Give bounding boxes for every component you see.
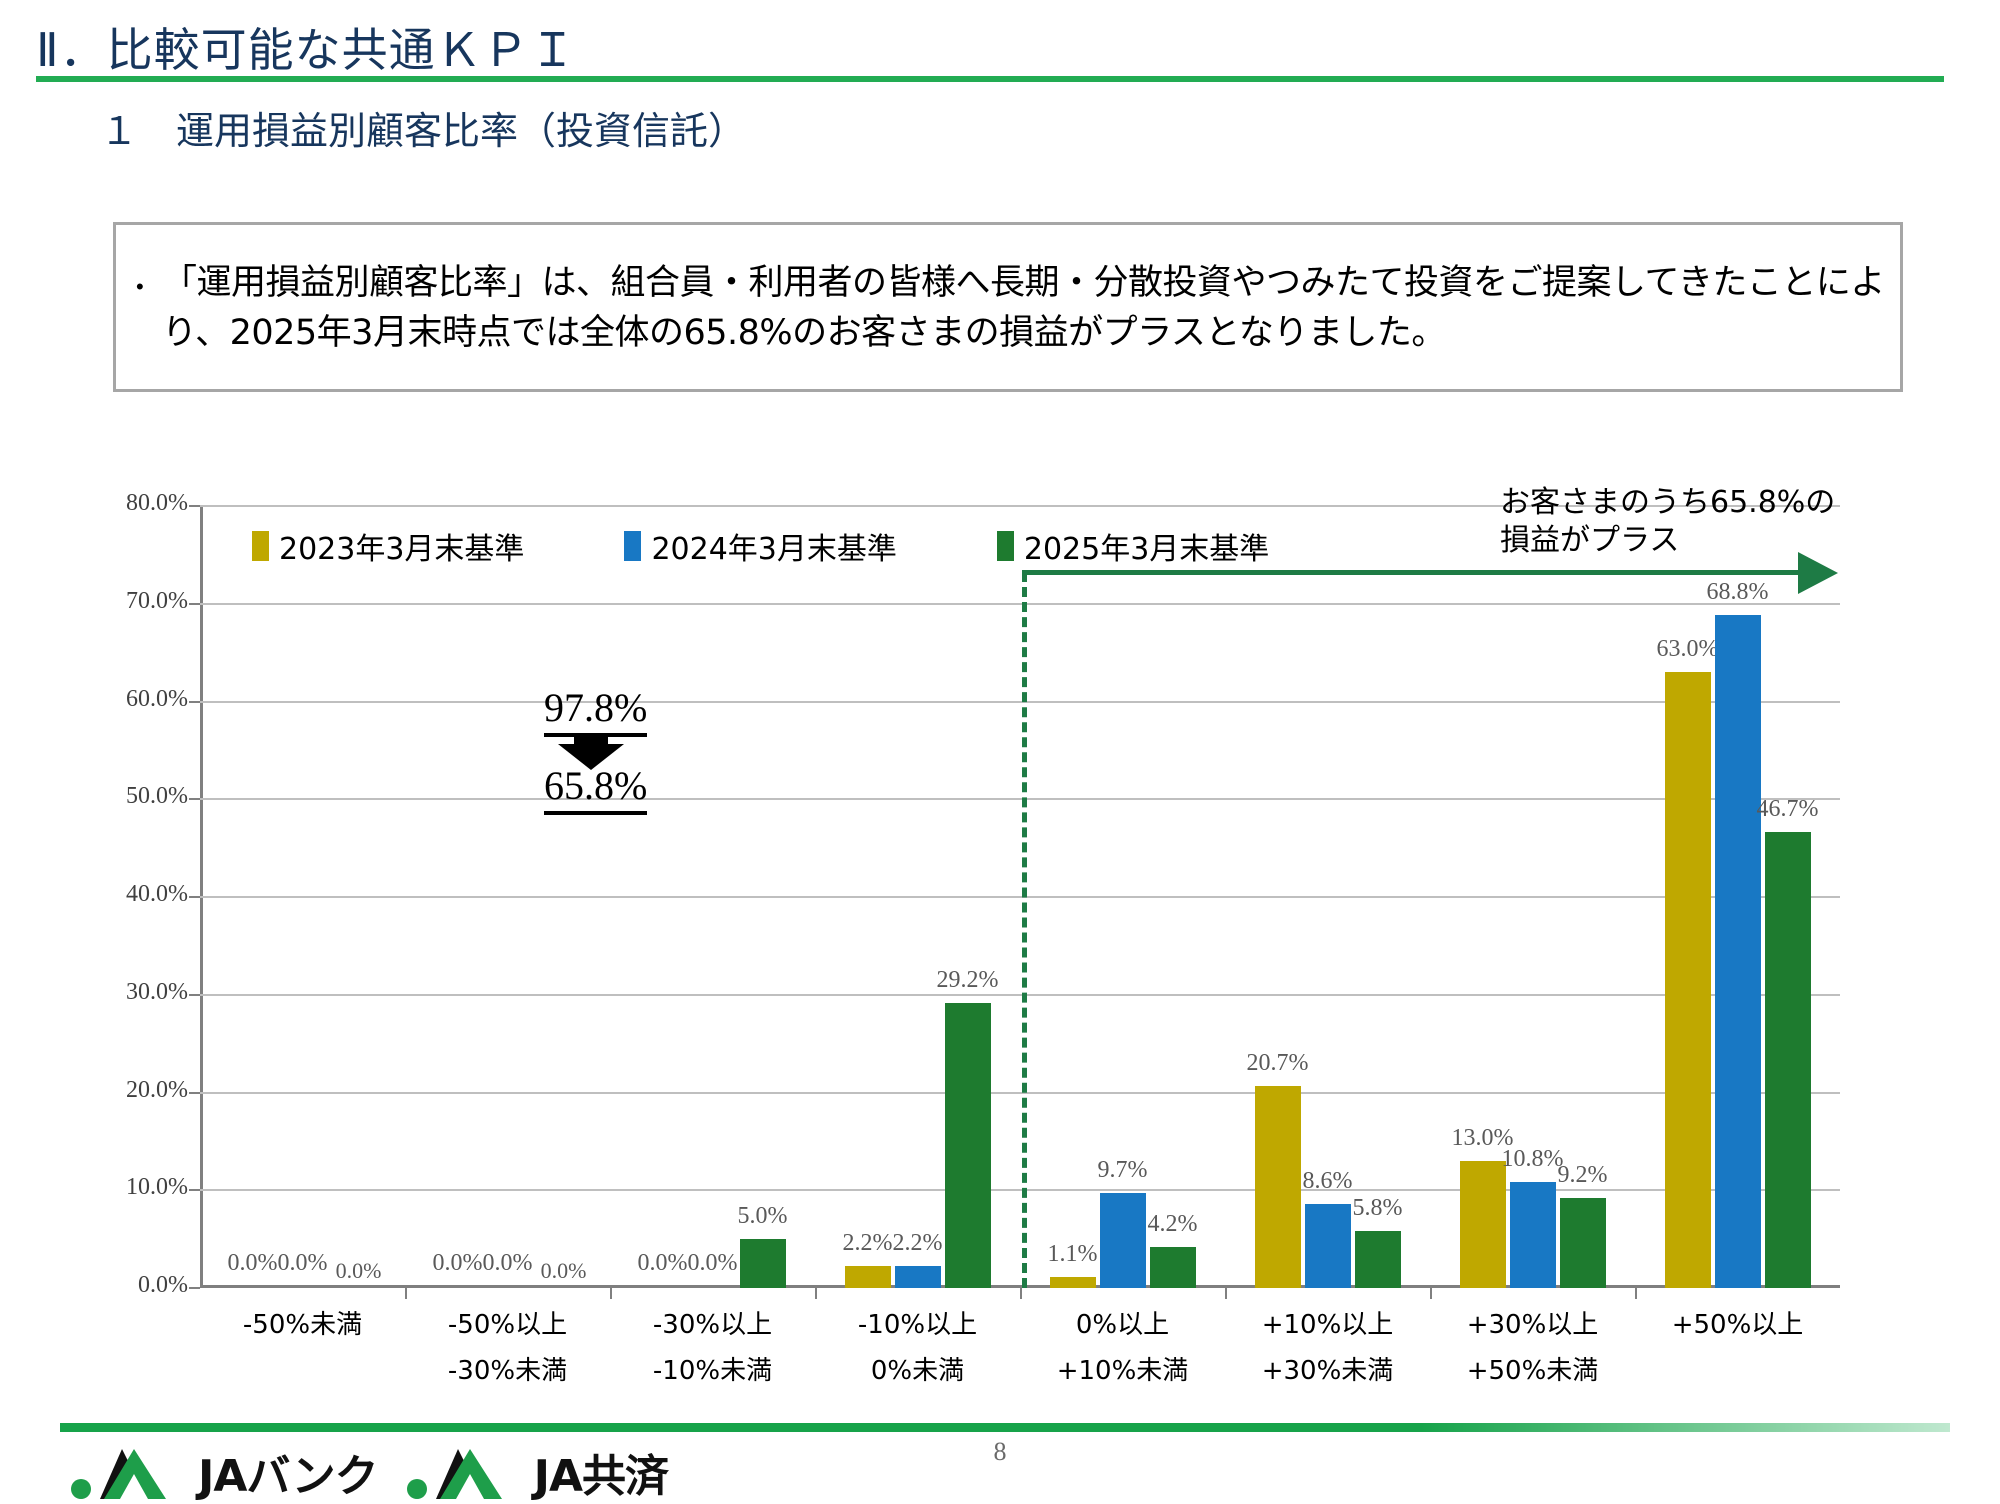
bar[interactable] <box>1150 1247 1196 1288</box>
y-axis-tick-label: 0.0% <box>28 1272 188 1299</box>
legend-swatch-icon <box>997 531 1014 561</box>
footer-divider-rule <box>60 1423 1950 1432</box>
bar-value-label: 8.6% <box>1276 1168 1380 1195</box>
y-axis-tick-label: 10.0% <box>28 1174 188 1201</box>
x-axis-category-line1: +50%以上 <box>1588 1302 1888 1348</box>
y-axis-tick-label: 70.0% <box>28 588 188 615</box>
gridline <box>200 798 1840 800</box>
legend-label: 2024年3月末基準 <box>651 524 896 568</box>
legend-item[interactable]: 2023年3月末基準 <box>252 524 524 568</box>
x-axis-tick <box>815 1288 817 1299</box>
y-axis-tick <box>189 505 200 507</box>
y-axis-tick-label: 60.0% <box>28 686 188 713</box>
y-axis-tick <box>189 701 200 703</box>
gridline <box>200 1189 1840 1191</box>
bar[interactable] <box>845 1266 891 1288</box>
bar-value-label: 46.7% <box>1736 796 1840 823</box>
ja-bank-logo: JAバンク <box>70 1440 378 1504</box>
y-axis-tick <box>189 1092 200 1094</box>
bar[interactable] <box>1665 672 1711 1288</box>
y-axis-tick <box>189 1189 200 1191</box>
bar[interactable] <box>895 1266 941 1288</box>
y-axis-tick <box>189 896 200 898</box>
ja-logo-mark-icon <box>406 1443 524 1501</box>
positive-share-annotation-line2: 損益がプラス <box>1500 522 1835 560</box>
bar[interactable] <box>1715 615 1761 1288</box>
ja-logo-mark-icon <box>70 1443 188 1501</box>
bar-value-label: 5.0% <box>711 1203 815 1230</box>
positive-threshold-divider <box>1022 572 1027 1288</box>
x-axis-tick <box>1020 1288 1022 1299</box>
bar[interactable] <box>1560 1198 1606 1288</box>
y-axis-tick <box>189 1287 200 1289</box>
y-axis-tick <box>189 798 200 800</box>
x-axis-category-line2: +50%未満 <box>1383 1348 1683 1394</box>
legend-label: 2023年3月末基準 <box>279 524 524 568</box>
x-axis-tick <box>1225 1288 1227 1299</box>
x-axis-tick <box>405 1288 407 1299</box>
ja-kyosai-logo-text: JA共済 <box>534 1440 668 1504</box>
legend-item[interactable]: 2025年3月末基準 <box>997 524 1269 568</box>
y-axis-tick-label: 50.0% <box>28 783 188 810</box>
bar-value-label: 68.8% <box>1686 579 1790 606</box>
legend-item[interactable]: 2024年3月末基準 <box>624 524 896 568</box>
bar-value-label: 0.0% <box>307 1258 411 1284</box>
y-axis-tick <box>189 603 200 605</box>
legend-label: 2025年3月末基準 <box>1024 524 1269 568</box>
y-axis-tick-label: 20.0% <box>28 1077 188 1104</box>
bar[interactable] <box>1050 1277 1096 1288</box>
y-axis-tick <box>189 994 200 996</box>
drop-from-label: 97.8% <box>544 684 647 737</box>
bar-value-label: 4.2% <box>1121 1211 1225 1238</box>
x-axis-tick <box>1430 1288 1432 1299</box>
legend-swatch-icon <box>252 531 269 561</box>
positive-share-annotation-line1: お客さまのうち65.8%の <box>1500 484 1835 522</box>
bar[interactable] <box>1510 1182 1556 1288</box>
y-axis-tick-label: 40.0% <box>28 881 188 908</box>
gridline <box>200 896 1840 898</box>
bar-value-label: 9.7% <box>1071 1157 1175 1184</box>
bar[interactable] <box>945 1003 991 1288</box>
x-axis-tick <box>610 1288 612 1299</box>
ja-bank-logo-text: JAバンク <box>198 1440 378 1504</box>
gridline <box>200 1092 1840 1094</box>
legend-swatch-icon <box>624 531 641 561</box>
gridline <box>200 994 1840 996</box>
chart-legend: 2023年3月末基準2024年3月末基準2025年3月末基準 <box>252 524 1269 568</box>
bar[interactable] <box>1100 1193 1146 1288</box>
bar-value-label: 0.0% <box>512 1258 616 1284</box>
x-axis-category-label: +50%以上 <box>1588 1302 1888 1348</box>
positive-share-annotation: お客さまのうち65.8%の損益がプラス <box>1500 484 1835 560</box>
footer-logos: JAバンク JA共済 <box>70 1440 668 1504</box>
ja-kyosai-logo: JA共済 <box>406 1440 668 1504</box>
bar-value-label: 20.7% <box>1226 1050 1330 1077</box>
y-axis-tick-label: 30.0% <box>28 979 188 1006</box>
bar-value-label: 9.2% <box>1531 1162 1635 1189</box>
bar-value-label: 29.2% <box>916 967 1020 994</box>
x-axis-tick <box>1635 1288 1637 1299</box>
y-axis-tick-label: 80.0% <box>28 490 188 517</box>
gridline <box>200 603 1840 605</box>
bar[interactable] <box>1355 1231 1401 1288</box>
kpi-bar-chart: 0.0%10.0%20.0%30.0%40.0%50.0%60.0%70.0%8… <box>0 0 2000 1500</box>
bar[interactable] <box>740 1239 786 1288</box>
bar-value-label: 5.8% <box>1326 1195 1430 1222</box>
positive-range-arrow-line <box>1022 570 1802 575</box>
bar[interactable] <box>1460 1161 1506 1288</box>
bar[interactable] <box>1765 832 1811 1288</box>
drop-to-label: 65.8% <box>544 762 647 815</box>
gridline <box>200 701 1840 703</box>
